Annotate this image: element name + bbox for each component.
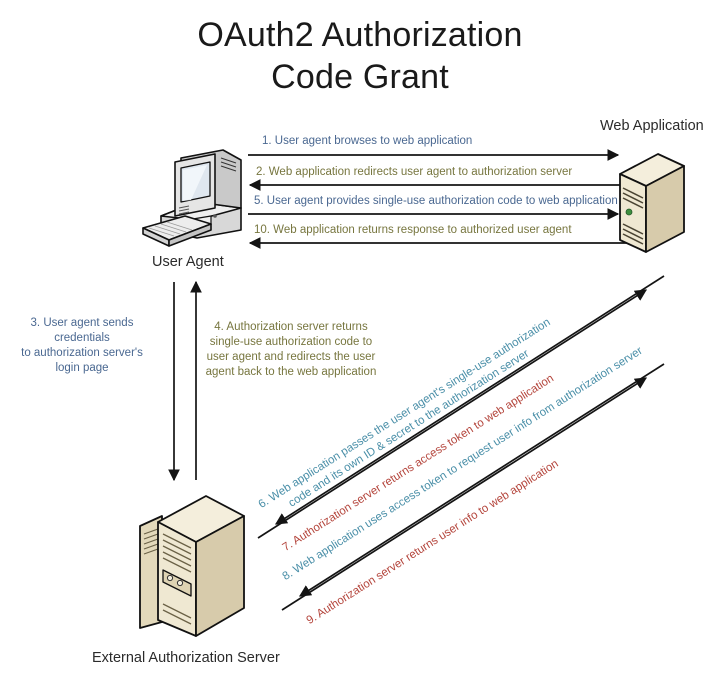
message-line: to authorization server's bbox=[6, 346, 158, 361]
message-line: 3. User agent sends credentials bbox=[6, 316, 158, 346]
server-tower-icon bbox=[616, 152, 688, 260]
node-label-authorization-server: External Authorization Server bbox=[92, 650, 280, 666]
page-title: OAuth2 Authorization Code Grant bbox=[0, 14, 720, 98]
message-line: user agent and redirects the user bbox=[204, 350, 378, 365]
message-line: single-use authorization code to bbox=[204, 335, 378, 350]
page-title-line-2: Code Grant bbox=[0, 56, 720, 98]
message-line: agent back to the web application bbox=[204, 365, 378, 380]
message-label-step-10: 10. Web application returns response to … bbox=[254, 223, 572, 237]
message-line: login page bbox=[6, 361, 158, 376]
message-label-step-3: 3. User agent sends credentials to autho… bbox=[6, 316, 158, 376]
message-label-step-4: 4. Authorization server returns single-u… bbox=[204, 320, 378, 380]
desktop-computer-icon bbox=[137, 146, 247, 250]
message-label-step-1: 1. User agent browses to web application bbox=[262, 134, 472, 148]
node-label-user-agent: User Agent bbox=[152, 254, 224, 270]
page-title-line-1: OAuth2 Authorization bbox=[197, 16, 522, 54]
arrow-line-step-7 bbox=[276, 276, 664, 524]
arrow-line-step-8 bbox=[282, 378, 646, 610]
node-label-web-application: Web Application bbox=[600, 118, 704, 134]
message-label-step-5: 5. User agent provides single-use author… bbox=[254, 194, 618, 208]
oauth2-flow-diagram: OAuth2 Authorization Code Grant bbox=[0, 0, 720, 680]
message-line: 4. Authorization server returns bbox=[204, 320, 378, 335]
arrow-line-step-9 bbox=[300, 364, 664, 596]
message-label-step-2: 2. Web application redirects user agent … bbox=[256, 165, 572, 179]
server-cabinet-icon bbox=[136, 490, 248, 642]
